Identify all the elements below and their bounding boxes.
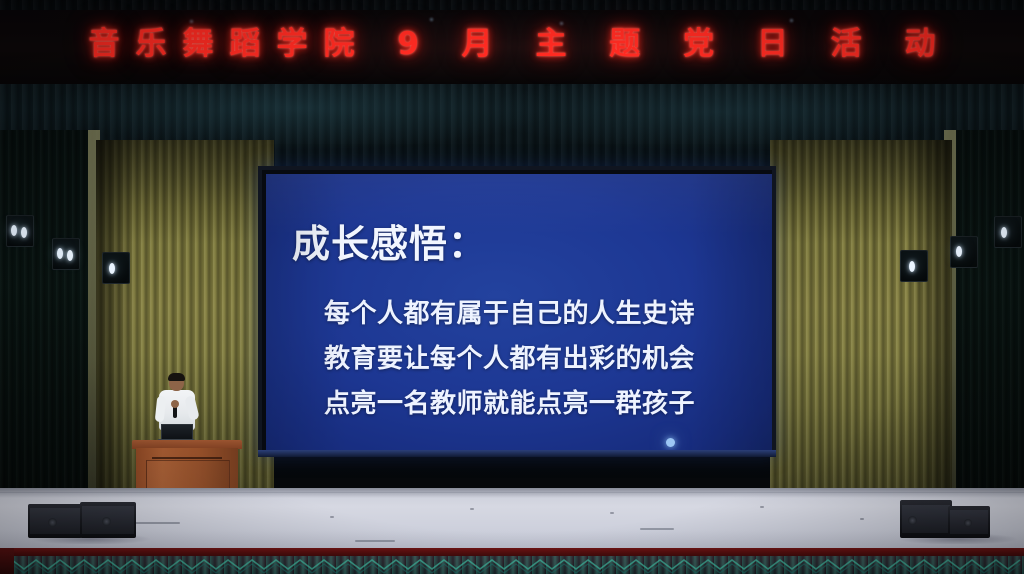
floor-back-shadow [0, 488, 1024, 498]
stage-wing-left [0, 130, 100, 518]
slide-body: 每个人都有属于自己的人生史诗 教育要让每个人都有出彩的机会 点亮一名教师就能点亮… [324, 292, 754, 427]
podium-groove [152, 457, 222, 459]
speaker-cone-icon [48, 518, 57, 527]
slide-line: 每个人都有属于自己的人生史诗 [324, 292, 754, 337]
stage-light-lens-icon [109, 263, 115, 274]
presenter-hand [171, 400, 179, 408]
stage-light-fixture [900, 250, 928, 282]
slide-surface: 成长感悟： 每个人都有属于自己的人生史诗 教育要让每个人都有出彩的机会 点亮一名… [266, 174, 772, 452]
speaker-cone-icon [102, 517, 111, 526]
stage-light-lens-icon [909, 261, 915, 272]
auditorium-scene: 音乐舞蹈学院 9 月 主 题 党 日 活 动 成长感悟： 每个 [0, 0, 1024, 574]
stage-monitor-speaker-left-b [80, 502, 136, 538]
stage-monitor-speaker-right-b [948, 506, 990, 538]
stage-light-lens-icon [21, 227, 27, 238]
slide-title: 成长感悟： [292, 222, 487, 266]
stage-curtain-right [770, 140, 952, 508]
stage-light-lens-icon [956, 246, 962, 257]
floor-speck [470, 508, 474, 510]
stage-light-fixture [102, 252, 130, 284]
banner-speck [190, 20, 193, 23]
banner-speck [430, 18, 433, 21]
glasses-icon [170, 380, 183, 384]
floor-cable [640, 528, 674, 530]
banner-speck [790, 19, 793, 22]
floor-speck [760, 506, 764, 508]
stage-light-fixture [994, 216, 1022, 248]
floor-speck [610, 512, 614, 514]
projector-hotspot-dot [666, 438, 675, 447]
stage-wing-right [946, 130, 1024, 518]
led-banner-text: 音乐舞蹈学院 9 月 主 题 党 日 活 动 [0, 24, 1024, 64]
stage-skirt-left-cap [0, 548, 14, 574]
stage-light-lens-icon [11, 225, 17, 236]
curtain-shadow-right [908, 140, 952, 508]
slide-line: 点亮一名教师就能点亮一群孩子 [324, 382, 754, 427]
floor-speck [860, 518, 864, 520]
speaker-cone-icon [964, 519, 972, 527]
stage-monitor-speaker-left-a [28, 504, 82, 538]
stage-skirt [0, 556, 1024, 574]
floor-speck [330, 516, 334, 518]
stage-light-lens-icon [57, 248, 63, 259]
projection-screen[interactable]: 成长感悟： 每个人都有属于自己的人生史诗 教育要让每个人都有出彩的机会 点亮一名… [258, 166, 776, 456]
skirt-chevron-pattern [0, 556, 1024, 574]
speaker-cone-icon [908, 516, 917, 525]
stage-light-fixture [52, 238, 80, 270]
floor-cable [355, 540, 395, 542]
stage-light-fixture [950, 236, 978, 268]
stage-light-lens-icon [67, 250, 73, 261]
stage-light-fixture [6, 215, 34, 247]
stage-monitor-speaker-right-a [900, 500, 952, 538]
slide-line: 教育要让每个人都有出彩的机会 [324, 337, 754, 382]
floor-seam [0, 492, 1024, 493]
stage-light-lens-icon [1001, 227, 1007, 238]
curtain-shadow-left [96, 140, 136, 508]
screen-bottom-bar [258, 450, 776, 457]
